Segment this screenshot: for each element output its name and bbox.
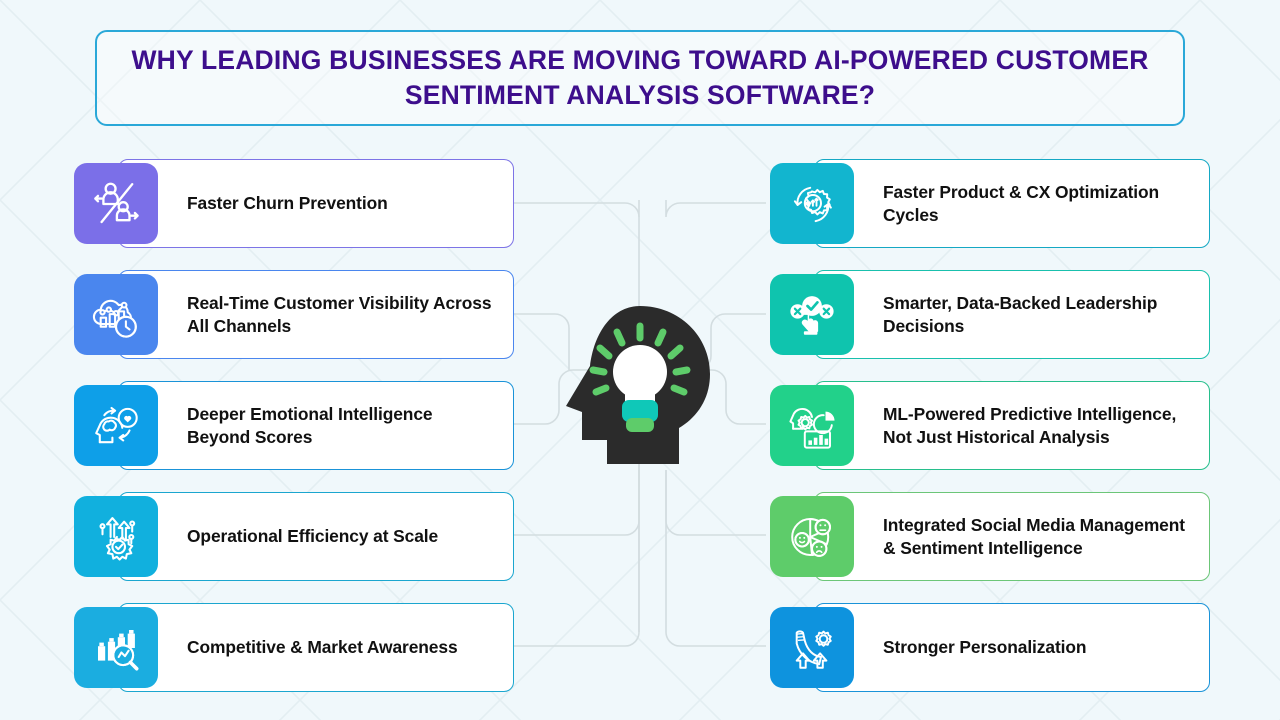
benefit-card[interactable]: Faster Product & CX Optimization Cycles <box>814 159 1210 248</box>
benefit-label: Faster Churn Prevention <box>187 192 388 214</box>
title-banner: Why Leading Businesses Are Moving Toward… <box>95 30 1185 126</box>
benefit-card[interactable]: Operational Efficiency at Scale <box>118 492 514 581</box>
list-item[interactable]: ML-Powered Predictive Intelligence, Not … <box>770 381 1210 470</box>
list-item[interactable]: Competitive & Market Awareness <box>74 603 514 692</box>
benefit-label: Real-Time Customer Visibility Across All… <box>187 292 499 337</box>
left-benefits-column: Faster Churn Prevention Real-Time Custom… <box>74 159 514 692</box>
brain-heart-icon <box>74 385 158 466</box>
benefit-card[interactable]: Integrated Social Media Management & Sen… <box>814 492 1210 581</box>
list-item[interactable]: Smarter, Data-Backed Leadership Decision… <box>770 270 1210 359</box>
right-benefits-column: Faster Product & CX Optimization Cycles … <box>770 159 1210 692</box>
list-item[interactable]: Faster Churn Prevention <box>74 159 514 248</box>
benefit-label: Stronger Personalization <box>883 636 1086 658</box>
benefit-card[interactable]: Competitive & Market Awareness <box>118 603 514 692</box>
list-item[interactable]: Operational Efficiency at Scale <box>74 492 514 581</box>
benefit-label: ML-Powered Predictive Intelligence, Not … <box>883 403 1195 448</box>
gear-cycle-arrows-icon <box>770 163 854 244</box>
benefit-card[interactable]: ML-Powered Predictive Intelligence, Not … <box>814 381 1210 470</box>
benefit-label: Smarter, Data-Backed Leadership Decision… <box>883 292 1195 337</box>
list-item[interactable]: Stronger Personalization <box>770 603 1210 692</box>
page-title: Why Leading Businesses Are Moving Toward… <box>115 43 1165 113</box>
list-item[interactable]: Deeper Emotional Intelligence Beyond Sco… <box>74 381 514 470</box>
cloud-analytics-clock-icon <box>74 274 158 355</box>
benefit-card[interactable]: Deeper Emotional Intelligence Beyond Sco… <box>118 381 514 470</box>
cursor-choice-check-icon <box>770 274 854 355</box>
benefit-card[interactable]: Real-Time Customer Visibility Across All… <box>118 270 514 359</box>
bar-chart-magnifier-icon <box>74 607 158 688</box>
gear-check-arrows-icon <box>74 496 158 577</box>
benefit-label: Deeper Emotional Intelligence Beyond Sco… <box>187 403 499 448</box>
arm-gear-growth-icon <box>770 607 854 688</box>
benefit-label: Operational Efficiency at Scale <box>187 525 438 547</box>
list-item[interactable]: Faster Product & CX Optimization Cycles <box>770 159 1210 248</box>
benefit-label: Integrated Social Media Management & Sen… <box>883 514 1195 559</box>
benefit-card[interactable]: Smarter, Data-Backed Leadership Decision… <box>814 270 1210 359</box>
sentiment-pie-faces-icon <box>770 496 854 577</box>
brain-gear-chart-icon <box>770 385 854 466</box>
list-item[interactable]: Real-Time Customer Visibility Across All… <box>74 270 514 359</box>
benefit-card[interactable]: Faster Churn Prevention <box>118 159 514 248</box>
list-item[interactable]: Integrated Social Media Management & Sen… <box>770 492 1210 581</box>
head-with-lightbulb-icon <box>560 300 720 470</box>
benefit-card[interactable]: Stronger Personalization <box>814 603 1210 692</box>
churn-users-arrows-icon <box>74 163 158 244</box>
benefit-label: Faster Product & CX Optimization Cycles <box>883 181 1195 226</box>
benefit-label: Competitive & Market Awareness <box>187 636 458 658</box>
